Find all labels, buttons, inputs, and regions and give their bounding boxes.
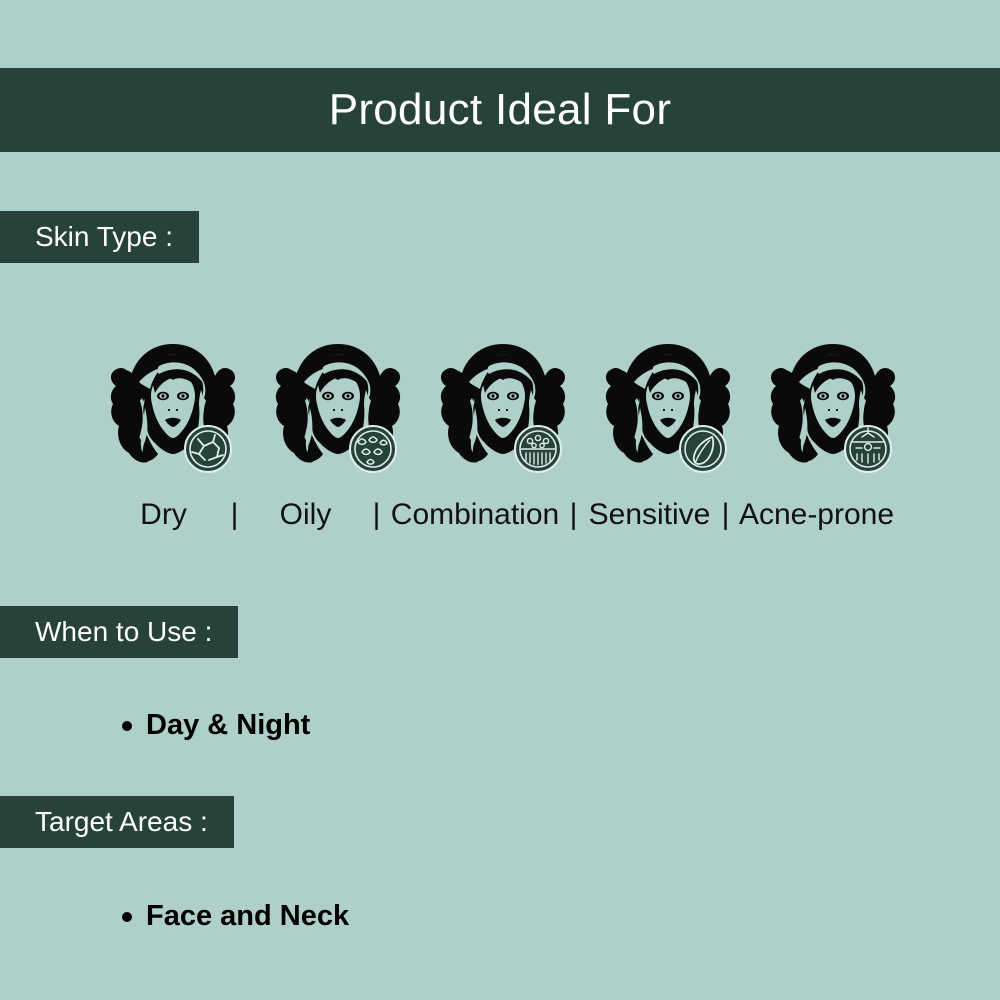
target-areas-value: Face and Neck (146, 902, 349, 931)
bullet-dot-icon (122, 912, 132, 922)
list-item: Day & Night (122, 711, 310, 740)
cracked-skin-badge-icon (185, 426, 231, 472)
list-item: Face and Neck (122, 902, 349, 931)
acne-dots-badge-icon (845, 426, 891, 472)
combination-split-badge-icon (515, 426, 561, 472)
skin-type-separator: | (224, 500, 246, 530)
face-oily-icon (268, 336, 408, 481)
skin-type-label-dry: Dry (104, 500, 224, 530)
skin-type-separator: | (563, 500, 585, 530)
skin-type-label-combination: Combination (388, 500, 563, 530)
skin-type-icon-row (103, 336, 903, 481)
section-label-skin-type: Skin Type : (0, 211, 199, 263)
face-dry-icon (103, 336, 243, 481)
section-label-target-areas-text: Target Areas : (35, 808, 208, 836)
section-label-skin-type-text: Skin Type : (35, 223, 173, 251)
bullet-dot-icon (122, 721, 132, 731)
when-to-use-value: Day & Night (146, 711, 310, 740)
section-label-target-areas: Target Areas : (0, 796, 234, 848)
header-banner: Product Ideal For (0, 68, 1000, 152)
skin-type-label-oily: Oily (246, 500, 366, 530)
skin-type-separator: | (366, 500, 388, 530)
section-label-when-to-use: When to Use : (0, 606, 238, 658)
page-title: Product Ideal For (329, 88, 672, 132)
face-sensitive-icon (598, 336, 738, 481)
section-label-when-to-use-text: When to Use : (35, 618, 212, 646)
skin-type-label-acne-prone: Acne-prone (737, 500, 897, 530)
skin-type-label-sensitive: Sensitive (585, 500, 715, 530)
face-combination-icon (433, 336, 573, 481)
skin-type-separator: | (715, 500, 737, 530)
skin-type-label-row: Dry | Oily | Combination | Sensitive | A… (0, 495, 1000, 535)
face-acne-prone-icon (763, 336, 903, 481)
oil-droplets-badge-icon (350, 426, 396, 472)
leaf-badge-icon (680, 426, 726, 472)
